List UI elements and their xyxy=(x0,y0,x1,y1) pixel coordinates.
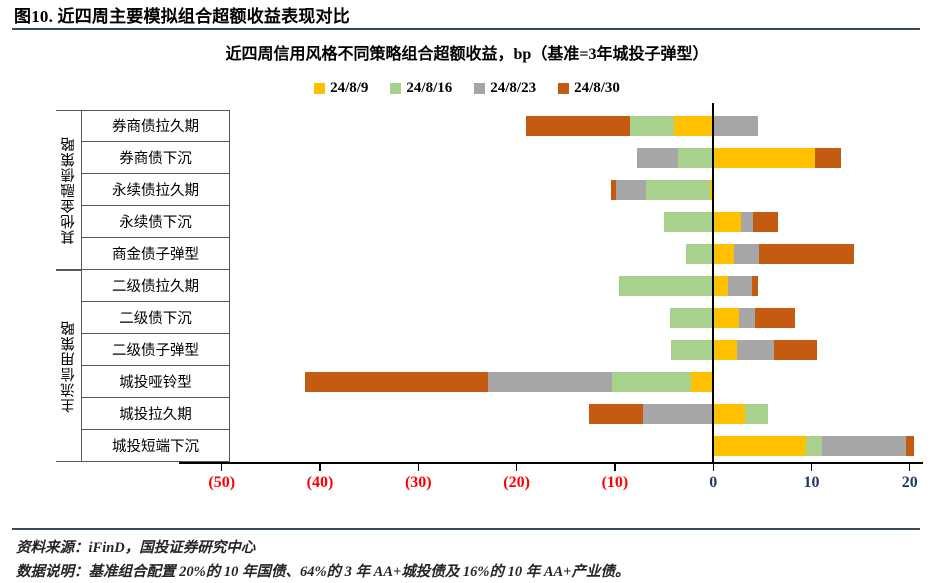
category-label-2: 永续债拉久期 xyxy=(82,174,230,206)
bar-segment-24-8-23[interactable] xyxy=(739,308,756,328)
legend-swatch-icon xyxy=(474,83,485,94)
bar-segment-24-8-9[interactable] xyxy=(713,148,815,168)
x-tick-3 xyxy=(516,462,517,471)
bar-segment-24-8-16[interactable] xyxy=(678,148,713,168)
x-tick-label-3: (20) xyxy=(503,474,530,492)
chart-title: 近四周信用风格不同策略组合超额收益，bp（基准=3年城投子弹型） xyxy=(0,40,934,64)
figure-title: 图10. 近四周主要模拟组合超额收益表现对比 xyxy=(14,2,350,27)
bar-segment-24-8-30[interactable] xyxy=(906,436,914,456)
category-label-3: 永续债下沉 xyxy=(82,206,230,238)
bar-segment-24-8-30[interactable] xyxy=(755,308,794,328)
group-axis-label: 主流信用策略 xyxy=(58,320,79,413)
bar-segment-24-8-16[interactable] xyxy=(671,340,713,360)
zero-axis-line xyxy=(712,103,714,462)
x-tick-5 xyxy=(713,462,714,471)
legend-label: 24/8/30 xyxy=(574,80,620,97)
chart-legend: 24/8/924/8/1624/8/2324/8/30 xyxy=(0,80,934,97)
bar-segment-24-8-23[interactable] xyxy=(637,148,678,168)
bar-segment-24-8-16[interactable] xyxy=(619,276,713,296)
bar-segment-24-8-9[interactable] xyxy=(713,308,739,328)
bar-segment-24-8-16[interactable] xyxy=(670,308,713,328)
data-note: 数据说明：基准组合配置 20%的 10 年国债、64%的 3 年 AA+城投债及… xyxy=(16,560,629,581)
bar-segment-24-8-9[interactable] xyxy=(674,116,713,136)
legend-swatch-icon xyxy=(390,83,401,94)
bar-segment-24-8-30[interactable] xyxy=(774,340,817,360)
bar-segment-24-8-16[interactable] xyxy=(745,404,769,424)
bar-segment-24-8-9[interactable] xyxy=(713,276,728,296)
legend-item-2[interactable]: 24/8/23 xyxy=(474,80,536,97)
bar-segment-24-8-9[interactable] xyxy=(691,372,714,392)
category-label-4: 商金债子弹型 xyxy=(82,238,230,270)
legend-item-3[interactable]: 24/8/30 xyxy=(558,80,620,97)
source-note: 资料来源：iFinD，国投证券研究中心 xyxy=(16,536,255,557)
bar-segment-24-8-9[interactable] xyxy=(713,244,734,264)
x-tick-label-2: (30) xyxy=(405,474,432,492)
plot-area: (50)(40)(30)(20)(10)01020 其他金融债策略主流信用策略券… xyxy=(0,110,934,520)
bar-segment-24-8-23[interactable] xyxy=(728,276,752,296)
bar-segment-24-8-30[interactable] xyxy=(611,180,616,200)
category-label-0: 券商债拉久期 xyxy=(82,110,230,142)
bar-segment-24-8-16[interactable] xyxy=(612,372,691,392)
bar-segment-24-8-9[interactable] xyxy=(713,212,741,232)
bar-segment-24-8-30[interactable] xyxy=(759,244,853,264)
category-label-1: 券商债下沉 xyxy=(82,142,230,174)
bar-segment-24-8-23[interactable] xyxy=(713,116,758,136)
x-tick-label-7: 20 xyxy=(902,474,918,492)
x-tick-2 xyxy=(418,462,419,471)
x-tick-0 xyxy=(221,462,222,471)
bar-segment-24-8-23[interactable] xyxy=(822,436,906,456)
bar-segment-24-8-9[interactable] xyxy=(713,436,805,456)
legend-label: 24/8/9 xyxy=(330,80,368,97)
legend-swatch-icon xyxy=(558,83,569,94)
x-tick-7 xyxy=(909,462,910,471)
x-tick-label-6: 10 xyxy=(804,474,820,492)
bar-segment-24-8-30[interactable] xyxy=(589,404,643,424)
x-tick-label-5: 0 xyxy=(709,474,717,492)
bar-segment-24-8-16[interactable] xyxy=(806,436,823,456)
category-label-7: 二级债子弹型 xyxy=(82,334,230,366)
legend-item-1[interactable]: 24/8/16 xyxy=(390,80,452,97)
x-tick-label-4: (10) xyxy=(602,474,629,492)
legend-item-0[interactable]: 24/8/9 xyxy=(314,80,368,97)
bar-segment-24-8-23[interactable] xyxy=(734,244,760,264)
x-tick-1 xyxy=(319,462,320,471)
bar-segment-24-8-30[interactable] xyxy=(526,116,629,136)
group-axis-1: 主流信用策略 xyxy=(56,270,82,462)
bar-segment-24-8-9[interactable] xyxy=(713,404,744,424)
bar-segment-24-8-16[interactable] xyxy=(686,244,714,264)
category-label-5: 二级债拉久期 xyxy=(82,270,230,302)
title-divider xyxy=(12,28,920,30)
group-axis-0: 其他金融债策略 xyxy=(56,110,82,270)
bar-segment-24-8-9[interactable] xyxy=(713,340,737,360)
x-tick-label-1: (40) xyxy=(307,474,334,492)
legend-label: 24/8/23 xyxy=(490,80,536,97)
bar-segment-24-8-23[interactable] xyxy=(616,180,646,200)
x-axis: (50)(40)(30)(20)(10)01020 xyxy=(0,462,934,464)
category-label-10: 城投短端下沉 xyxy=(82,430,230,462)
bar-segment-24-8-16[interactable] xyxy=(630,116,674,136)
x-tick-6 xyxy=(811,462,812,471)
category-label-6: 二级债下沉 xyxy=(82,302,230,334)
bar-segment-24-8-30[interactable] xyxy=(815,148,841,168)
category-label-9: 城投拉久期 xyxy=(82,398,230,430)
x-tick-4 xyxy=(614,462,615,471)
bar-segment-24-8-16[interactable] xyxy=(646,180,710,200)
bar-segment-24-8-30[interactable] xyxy=(752,276,759,296)
bar-segment-24-8-23[interactable] xyxy=(643,404,713,424)
bar-segment-24-8-30[interactable] xyxy=(305,372,488,392)
bar-segment-24-8-30[interactable] xyxy=(753,212,779,232)
bar-segment-24-8-23[interactable] xyxy=(737,340,774,360)
legend-swatch-icon xyxy=(314,83,325,94)
x-tick-label-0: (50) xyxy=(208,474,235,492)
bar-segment-24-8-16[interactable] xyxy=(664,212,713,232)
footer-divider xyxy=(12,528,920,530)
bar-segment-24-8-23[interactable] xyxy=(741,212,753,232)
category-label-8: 城投哑铃型 xyxy=(82,366,230,398)
group-axis-label: 其他金融债策略 xyxy=(58,136,79,245)
legend-label: 24/8/16 xyxy=(406,80,452,97)
bar-segment-24-8-23[interactable] xyxy=(488,372,612,392)
